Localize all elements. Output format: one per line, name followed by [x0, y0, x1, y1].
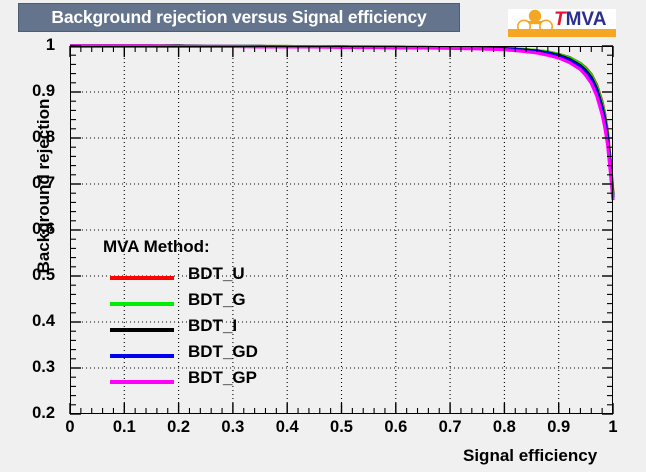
legend-color-swatch	[110, 302, 174, 306]
legend-item[interactable]: BDT_GD	[103, 342, 303, 368]
x-tick-label: 0.2	[167, 418, 190, 437]
legend: MVA Method: BDT_UBDT_GBDT_IBDT_GDBDT_GP	[103, 237, 303, 394]
x-tick-label: 0.9	[547, 418, 570, 437]
x-tick-label: 0	[65, 418, 74, 437]
x-tick-label: 0.5	[330, 418, 353, 437]
legend-color-swatch	[110, 276, 174, 280]
y-tick-label: 0.3	[32, 358, 55, 377]
chart-title-bar: Background rejection versus Signal effic…	[18, 3, 460, 32]
legend-rows: BDT_UBDT_GBDT_IBDT_GDBDT_GP	[103, 264, 303, 394]
y-tick-label: 1	[46, 36, 55, 55]
legend-item[interactable]: BDT_U	[103, 264, 303, 290]
legend-item-label: BDT_GP	[188, 368, 257, 388]
tmva-logo: TMVA	[508, 9, 616, 37]
x-axis-title: Signal efficiency	[463, 446, 597, 466]
x-tick-label: 1	[608, 418, 617, 437]
y-tick-label: 0.6	[32, 220, 55, 239]
y-axis-tick-labels: 0.20.30.40.50.60.70.80.91	[0, 46, 64, 414]
x-tick-label: 0.6	[384, 418, 407, 437]
legend-item[interactable]: BDT_GP	[103, 368, 303, 394]
y-tick-label: 0.8	[32, 128, 55, 147]
legend-item[interactable]: BDT_G	[103, 290, 303, 316]
legend-color-swatch	[110, 354, 174, 358]
y-tick-label: 0.5	[32, 266, 55, 285]
legend-item[interactable]: BDT_I	[103, 316, 303, 342]
legend-color-swatch	[110, 328, 174, 332]
legend-item-label: BDT_GD	[188, 342, 258, 362]
page-title: Background rejection versus Signal effic…	[51, 7, 426, 28]
x-axis-tick-labels: 00.10.20.30.40.50.60.70.80.91	[70, 418, 613, 442]
tmva-wordmark: TMVA	[554, 10, 606, 29]
y-tick-label: 0.9	[32, 82, 55, 101]
legend-item-label: BDT_I	[188, 316, 237, 336]
legend-title: MVA Method:	[103, 237, 303, 257]
y-tick-label: 0.4	[32, 312, 55, 331]
x-tick-label: 0.3	[221, 418, 244, 437]
y-tick-label: 0.7	[32, 174, 55, 193]
tmva-letter-t: T	[554, 9, 566, 30]
x-tick-label: 0.8	[493, 418, 516, 437]
x-tick-label: 0.1	[113, 418, 136, 437]
x-tick-label: 0.4	[276, 418, 299, 437]
legend-item-label: BDT_U	[188, 264, 245, 284]
legend-item-label: BDT_G	[188, 290, 246, 310]
y-tick-label: 0.2	[32, 404, 55, 423]
tmva-orange-bar	[508, 29, 616, 37]
tmva-letters-mva: MVA	[566, 9, 607, 30]
x-tick-label: 0.7	[439, 418, 462, 437]
legend-color-swatch	[110, 380, 174, 384]
